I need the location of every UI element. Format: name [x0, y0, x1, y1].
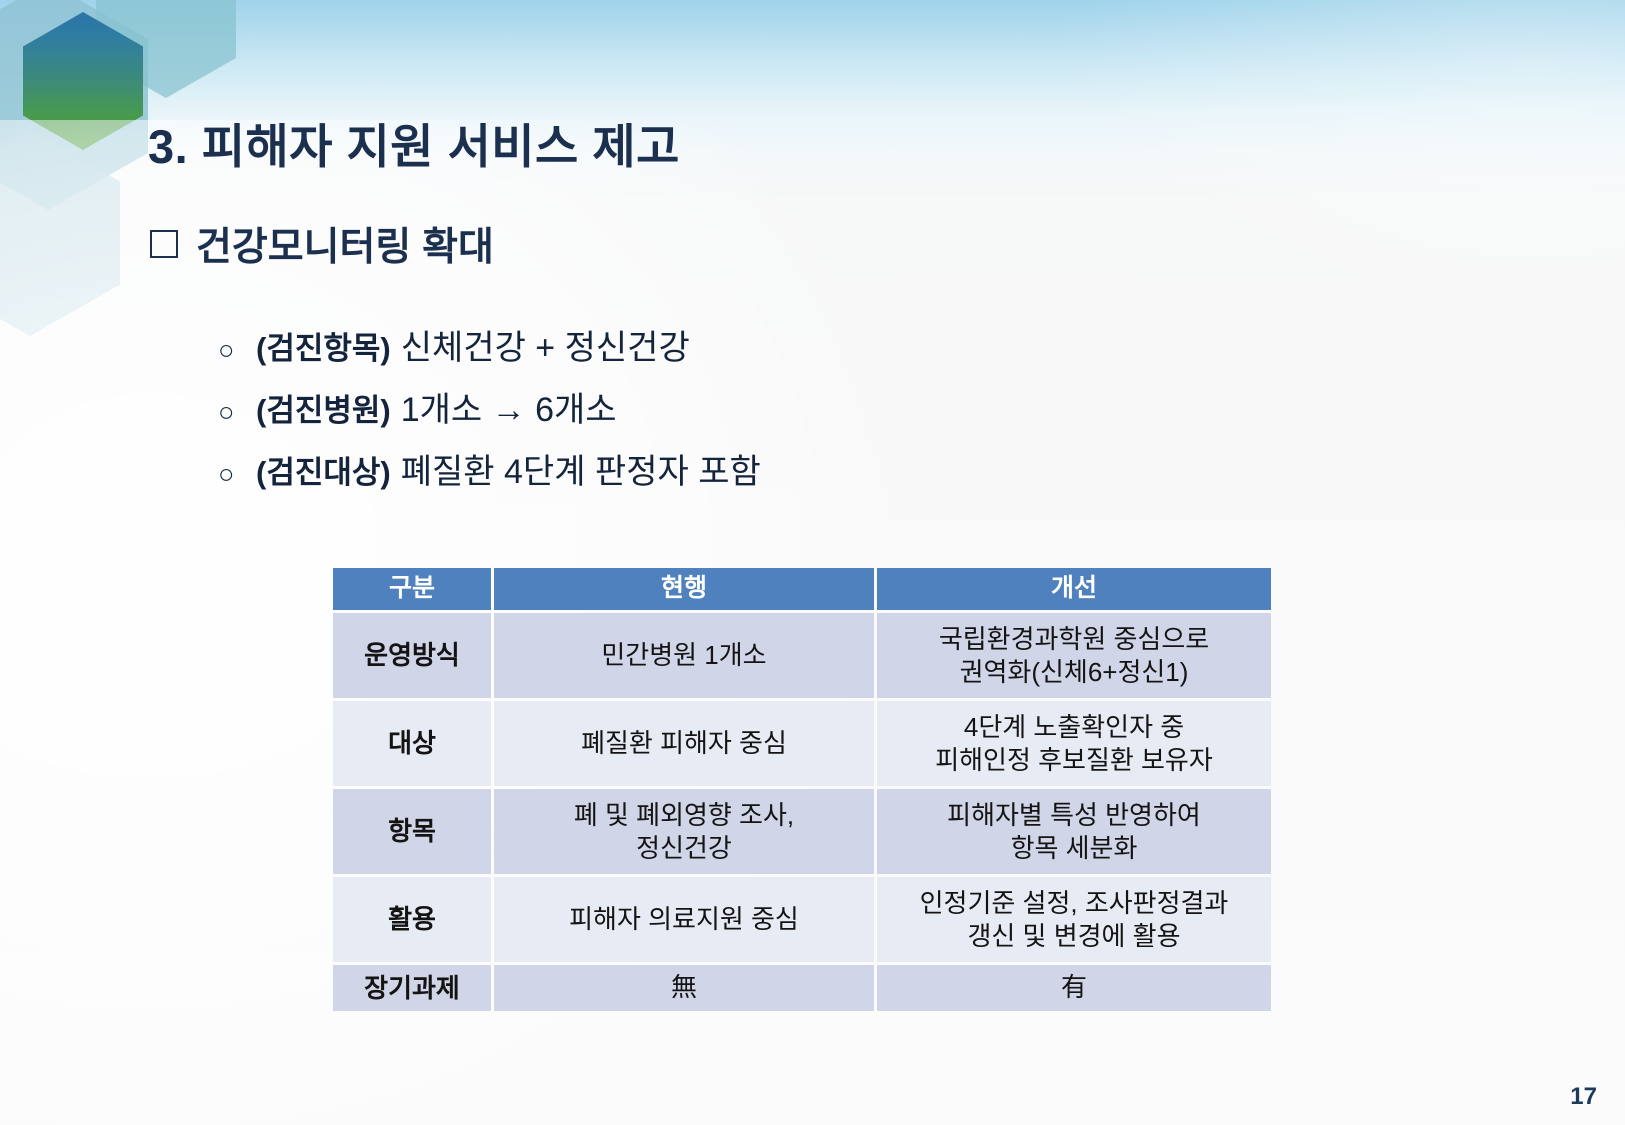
- table-cell-label: 항목: [333, 789, 491, 874]
- table-header-cell-current: 현행: [494, 568, 874, 610]
- list-item-text: 신체건강 + 정신건강: [401, 320, 690, 369]
- section-subtitle: 건강모니터링 확대: [150, 216, 494, 272]
- list-item-lead: (검진병원): [256, 385, 391, 430]
- table-cell-label: 장기과제: [333, 965, 491, 1011]
- list-item-text: 폐질환 4단계 판정자 포함: [401, 444, 761, 493]
- table-cell-label: 운영방식: [333, 613, 491, 698]
- table-row: 항목 폐 및 폐외영향 조사, 정신건강 피해자별 특성 반영하여 항목 세분화: [333, 789, 1271, 874]
- table-cell-current: 無: [494, 965, 874, 1011]
- table-cell-current: 폐질환 피해자 중심: [494, 701, 874, 786]
- list-item-text: 1개소 → 6개소: [401, 382, 617, 431]
- table-header-cell-improved: 개선: [877, 568, 1271, 610]
- section-subtitle-label: 건강모니터링 확대: [196, 216, 494, 272]
- table-cell-improved-line1: 국립환경과학원 중심으로: [877, 623, 1271, 656]
- bullet-list: ○ (검진항목) 신체건강 + 정신건강 ○ (검진병원) 1개소 → 6개소 …: [218, 320, 1418, 506]
- table-cell-current: 폐 및 폐외영향 조사, 정신건강: [494, 789, 874, 874]
- table-cell-improved: 有: [877, 965, 1271, 1011]
- table-cell-improved-line2: 권역화(신체6+정신1): [877, 656, 1271, 689]
- table-cell-improved-line2: 갱신 및 변경에 활용: [877, 920, 1271, 953]
- table-cell-current-line2: 정신건강: [494, 832, 874, 865]
- table-cell-improved-line2: 피해인정 후보질환 보유자: [877, 744, 1271, 777]
- table-cell-improved: 피해자별 특성 반영하여 항목 세분화: [877, 789, 1271, 874]
- circle-bullet-icon: ○: [218, 335, 256, 366]
- slide-canvas: 3. 피해자 지원 서비스 제고 건강모니터링 확대 ○ (검진항목) 신체건강…: [0, 0, 1625, 1125]
- list-item: ○ (검진항목) 신체건강 + 정신건강: [218, 320, 1418, 369]
- list-item-lead: (검진대상): [256, 447, 391, 492]
- table-header-cell-category: 구분: [333, 568, 491, 610]
- table-cell-improved-line1: 인정기준 설정, 조사판정결과: [877, 887, 1271, 920]
- table-cell-label: 대상: [333, 701, 491, 786]
- list-item-lead: (검진항목): [256, 323, 391, 368]
- background-sheen-right: [1045, 0, 1625, 360]
- page-title: 3. 피해자 지원 서비스 제고: [148, 108, 680, 177]
- table-cell-improved: 인정기준 설정, 조사판정결과 갱신 및 변경에 활용: [877, 877, 1271, 962]
- circle-bullet-icon: ○: [218, 397, 256, 428]
- table-cell-current: 민간병원 1개소: [494, 613, 874, 698]
- list-item: ○ (검진병원) 1개소 → 6개소: [218, 382, 1418, 431]
- checkbox-square-icon: [150, 230, 178, 258]
- page-number: 17: [1570, 1083, 1597, 1111]
- table-cell-label: 활용: [333, 877, 491, 962]
- table-cell-current-line1: 폐 및 폐외영향 조사,: [494, 799, 874, 832]
- table-cell-improved-line2: 항목 세분화: [877, 832, 1271, 865]
- table-cell-improved: 4단계 노출확인자 중 피해인정 후보질환 보유자: [877, 701, 1271, 786]
- table-row: 장기과제 無 有: [333, 965, 1271, 1011]
- table-row: 운영방식 민간병원 1개소 국립환경과학원 중심으로 권역화(신체6+정신1): [333, 613, 1271, 698]
- comparison-table: 구분 현행 개선 운영방식 민간병원 1개소 국립환경과학원 중심으로 권역화(…: [330, 565, 1274, 1014]
- table-row: 활용 피해자 의료지원 중심 인정기준 설정, 조사판정결과 갱신 및 변경에 …: [333, 877, 1271, 962]
- table-cell-improved-line1: 4단계 노출확인자 중: [877, 711, 1271, 744]
- table-header-row: 구분 현행 개선: [333, 568, 1271, 610]
- list-item: ○ (검진대상) 폐질환 4단계 판정자 포함: [218, 444, 1418, 493]
- table-row: 대상 폐질환 피해자 중심 4단계 노출확인자 중 피해인정 후보질환 보유자: [333, 701, 1271, 786]
- table-cell-improved-line1: 피해자별 특성 반영하여: [877, 799, 1271, 832]
- table-cell-improved: 국립환경과학원 중심으로 권역화(신체6+정신1): [877, 613, 1271, 698]
- circle-bullet-icon: ○: [218, 459, 256, 490]
- table-cell-current: 피해자 의료지원 중심: [494, 877, 874, 962]
